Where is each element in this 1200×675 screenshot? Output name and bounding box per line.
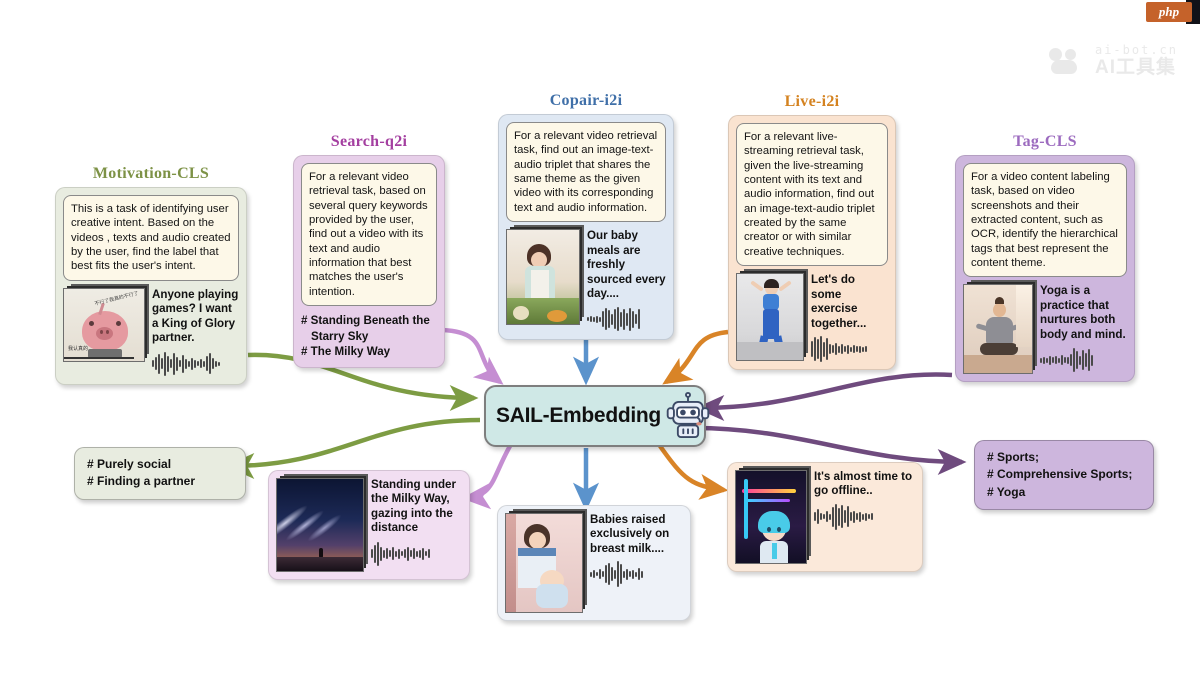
thumb-woman-exercising xyxy=(736,273,804,361)
task-card-live-i2i[interactable]: Live-i2i For a relevant live-streaming r… xyxy=(728,93,896,370)
sample-caption-live: Let's do some exercise together... xyxy=(811,273,888,331)
watermark-brand: AI工具集 xyxy=(1095,58,1178,77)
diagram-canvas: php ai-bot.cn AI工具集 xyxy=(0,0,1200,675)
task-sample-tag: Yoga is a practice that nurtures both bo… xyxy=(963,284,1127,374)
audio-waveform-copair-out xyxy=(590,561,683,587)
task-card-search-q2i[interactable]: Search-q2i For a relevant video retrieva… xyxy=(293,133,445,368)
output-line: # Purely social xyxy=(87,456,233,473)
task-prompt-tag-cls: For a video content labeling task, based… xyxy=(963,163,1127,277)
task-body-search-q2i: For a relevant video retrieval task, bas… xyxy=(293,155,445,368)
output-caption-copair: Babies raised exclusively on breast milk… xyxy=(590,513,683,556)
task-card-motivation-cls[interactable]: Motivation-CLS This is a task of identif… xyxy=(55,165,247,385)
output-line: # Sports; xyxy=(987,449,1141,466)
output-chip-motivation[interactable]: # Purely social # Finding a partner xyxy=(74,447,246,500)
thumb-cooking xyxy=(506,229,580,325)
task-body-copair-i2i: For a relevant video retrieval task, fin… xyxy=(498,114,674,340)
task-prompt-live-i2i: For a relevant live-streaming retrieval … xyxy=(736,123,888,266)
audio-waveform-motivation xyxy=(152,351,239,377)
thumb-mother-baby xyxy=(505,513,583,613)
output-caption-search: Standing under the Milky Way, gazing int… xyxy=(371,478,462,536)
output-card-copair[interactable]: Babies raised exclusively on breast milk… xyxy=(497,505,691,621)
task-body-live-i2i: For a relevant live-streaming retrieval … xyxy=(728,115,896,370)
output-line: # Comprehensive Sports; xyxy=(987,466,1141,483)
audio-waveform-search xyxy=(371,541,462,567)
query-line: # The Milky Way xyxy=(301,344,437,360)
thumb-piglet-plush: 我认真的 不行了我真的不行了 xyxy=(63,288,145,362)
thumb-virtual-streamer xyxy=(735,470,807,564)
output-chip-tag[interactable]: # Sports; # Comprehensive Sports; # Yoga xyxy=(974,440,1154,510)
sample-caption-copair: Our baby meals are freshly sourced every… xyxy=(587,229,666,301)
query-line: # Standing Beneath the xyxy=(301,313,437,329)
php-logo-badge: php xyxy=(1146,2,1192,22)
output-caption-live: It's almost time to go offline.. xyxy=(814,470,915,499)
watermark-site: ai-bot.cn xyxy=(1095,44,1178,56)
task-body-motivation-cls: This is a task of identifying user creat… xyxy=(55,187,247,385)
audio-waveform-live xyxy=(811,336,888,362)
site-watermark: ai-bot.cn AI工具集 xyxy=(1049,44,1178,77)
center-node-label: SAIL-Embedding xyxy=(496,404,661,428)
thumb-yoga-meditation xyxy=(963,284,1033,374)
task-sample-live: Let's do some exercise together... xyxy=(736,273,888,362)
task-prompt-copair-i2i: For a relevant video retrieval task, fin… xyxy=(506,122,666,222)
task-title-search-q2i: Search-q2i xyxy=(293,133,445,151)
sample-caption-tag: Yoga is a practice that nurtures both bo… xyxy=(1040,284,1127,342)
audio-waveform-tag xyxy=(1040,347,1127,373)
task-prompt-motivation-cls: This is a task of identifying user creat… xyxy=(63,195,239,281)
task-title-copair-i2i: Copair-i2i xyxy=(498,92,674,110)
query-line: Starry Sky xyxy=(301,329,437,345)
task-title-live-i2i: Live-i2i xyxy=(728,93,896,111)
task-card-copair-i2i[interactable]: Copair-i2i For a relevant video retrieva… xyxy=(498,92,674,340)
thumb-milky-way xyxy=(276,478,364,572)
output-line: # Finding a partner xyxy=(87,473,233,490)
output-card-search[interactable]: Standing under the Milky Way, gazing int… xyxy=(268,470,470,580)
task-query-keywords: # Standing Beneath the Starry Sky # The … xyxy=(301,313,437,360)
task-body-tag-cls: For a video content labeling task, based… xyxy=(955,155,1135,382)
php-badge-label: php xyxy=(1159,4,1179,20)
task-card-tag-cls[interactable]: Tag-CLS For a video content labeling tas… xyxy=(955,133,1135,382)
audio-waveform-copair xyxy=(587,306,666,332)
robot-icon xyxy=(663,391,713,441)
task-sample-motivation-cls: 我认真的 不行了我真的不行了 Anyone playing games? I w… xyxy=(63,288,239,377)
output-card-live[interactable]: It's almost time to go offline.. xyxy=(727,462,923,572)
output-line: # Yoga xyxy=(987,484,1141,501)
sample-caption-motivation: Anyone playing games? I want a King of G… xyxy=(152,288,239,346)
ai-bot-logo-icon xyxy=(1049,48,1087,74)
audio-waveform-live-out xyxy=(814,504,915,530)
center-node-sail-embedding[interactable]: SAIL-Embedding xyxy=(484,385,706,447)
task-title-motivation-cls: Motivation-CLS xyxy=(55,165,247,183)
task-title-tag-cls: Tag-CLS xyxy=(955,133,1135,151)
task-sample-copair: Our baby meals are freshly sourced every… xyxy=(506,229,666,332)
task-prompt-search-q2i: For a relevant video retrieval task, bas… xyxy=(301,163,437,306)
